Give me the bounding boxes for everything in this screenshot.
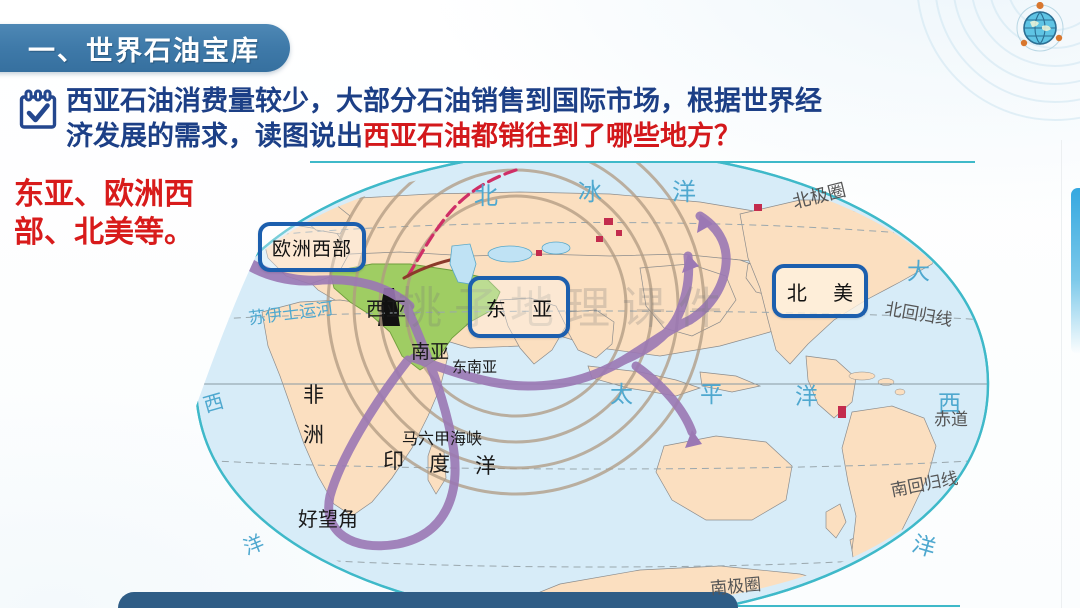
question-line-2: 济发展的需求，读图说出西亚石油都销往到了哪些地方？ (66, 119, 966, 154)
map-label-cape-of-good-hope: 好望角 (298, 503, 358, 532)
map-label-southeast-asia: 东南亚 (452, 356, 497, 377)
map-label-south-asia: 南亚 (411, 337, 449, 364)
callout-east-asia[interactable]: 东 亚 (468, 276, 570, 338)
calendar-check-icon (18, 89, 58, 131)
question-highlight: 西亚石油都销往到了哪些地方 (363, 121, 714, 151)
callout-north-america-label: 北 美 (777, 277, 863, 306)
callout-europe-west-label: 欧洲西部 (272, 234, 352, 261)
map-label-arctic-ocean-3: 洋 (672, 172, 696, 207)
map-label-malacca-strait: 马六甲海峡 (402, 425, 482, 449)
map-label-west-asia: 西亚 (366, 293, 406, 322)
section-title-text: 一、世界石油宝库 (28, 29, 260, 68)
slide-stage: 北 冰 洋 北极圈 苏伊士运河 西亚 南亚 东南亚 非 洲 西 洋 马六甲海峡 … (0, 0, 1080, 608)
map-label-indian-ocean-1: 印 (383, 445, 404, 475)
map-label-africa-2: 洲 (303, 419, 324, 449)
map-label-africa-1: 非 (303, 379, 324, 409)
map-label-indian-ocean-2: 度 (429, 448, 450, 478)
bottom-navy-band (118, 592, 738, 608)
callout-north-america[interactable]: 北 美 (772, 264, 868, 318)
callout-east-asia-label: 东 亚 (476, 293, 562, 322)
answer-text: 东亚、欧洲西 部、北美等。 (14, 176, 244, 253)
question-line-2-prefix: 济发展的需求，读图说出 (66, 121, 363, 151)
map-label-atlantic-big: 大 (907, 252, 930, 286)
question-line-1: 西亚石油消费量较少，大部分石油销售到国际市场，根据世界经 (66, 84, 966, 119)
answer-line-1: 东亚、欧洲西 (14, 176, 244, 214)
map-label-antarctic-circle: 南极圈 (709, 570, 762, 599)
map-label-arctic-ocean-2: 冰 (578, 172, 602, 207)
section-title-pill[interactable]: 一、世界石油宝库 (0, 24, 290, 72)
map-label-pacific-1: 太 (610, 375, 633, 409)
map-label-indian-ocean-3: 洋 (475, 450, 496, 480)
question-line-2-suffix: ？ (714, 121, 741, 151)
answer-line-2: 部、北美等。 (14, 214, 244, 252)
map-label-pacific-3: 洋 (795, 377, 818, 411)
map-label-arctic-ocean-1: 北 (474, 176, 498, 211)
map-label-pacific-2: 平 (700, 375, 723, 409)
question-text: 西亚石油消费量较少，大部分石油销售到国际市场，根据世界经 济发展的需求，读图说出… (66, 84, 966, 153)
callout-europe-west[interactable]: 欧洲西部 (258, 222, 366, 272)
map-label-equator: 赤道 (934, 405, 968, 430)
globe-icon (1014, 2, 1066, 54)
